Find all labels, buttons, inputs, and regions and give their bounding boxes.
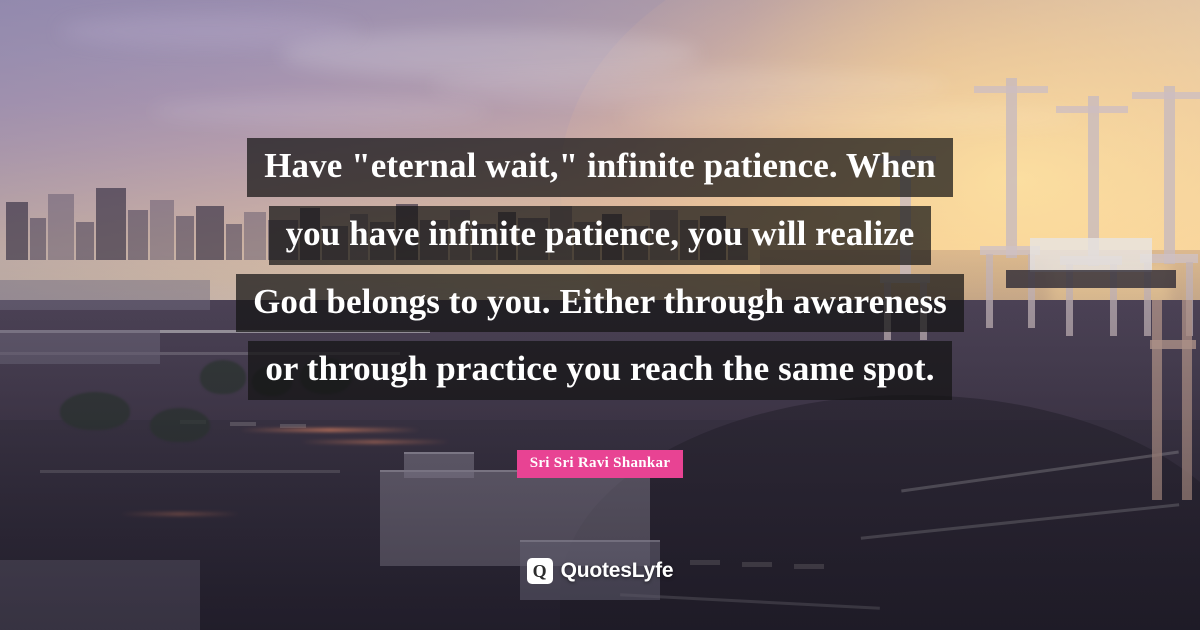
quote-line: God belongs to you. Either through aware… [236,274,964,333]
quote-line: or through practice you reach the same s… [248,341,951,400]
logo-text: QuotesLyfe [561,559,674,583]
quote-line: Have "eternal wait," infinite patience. … [247,138,953,197]
quote-mark-icon: Q [527,558,553,584]
site-logo[interactable]: Q QuotesLyfe [0,558,1200,584]
logo-glyph: Q [533,562,547,580]
quote-author-row: Sri Sri Ravi Shankar [0,450,1200,478]
quote-author: Sri Sri Ravi Shankar [517,450,684,478]
quote-image: Have "eternal wait," infinite patience. … [0,0,1200,630]
quote-line: you have infinite patience, you will rea… [269,206,932,265]
quote-text-block: Have "eternal wait," infinite patience. … [0,138,1200,409]
